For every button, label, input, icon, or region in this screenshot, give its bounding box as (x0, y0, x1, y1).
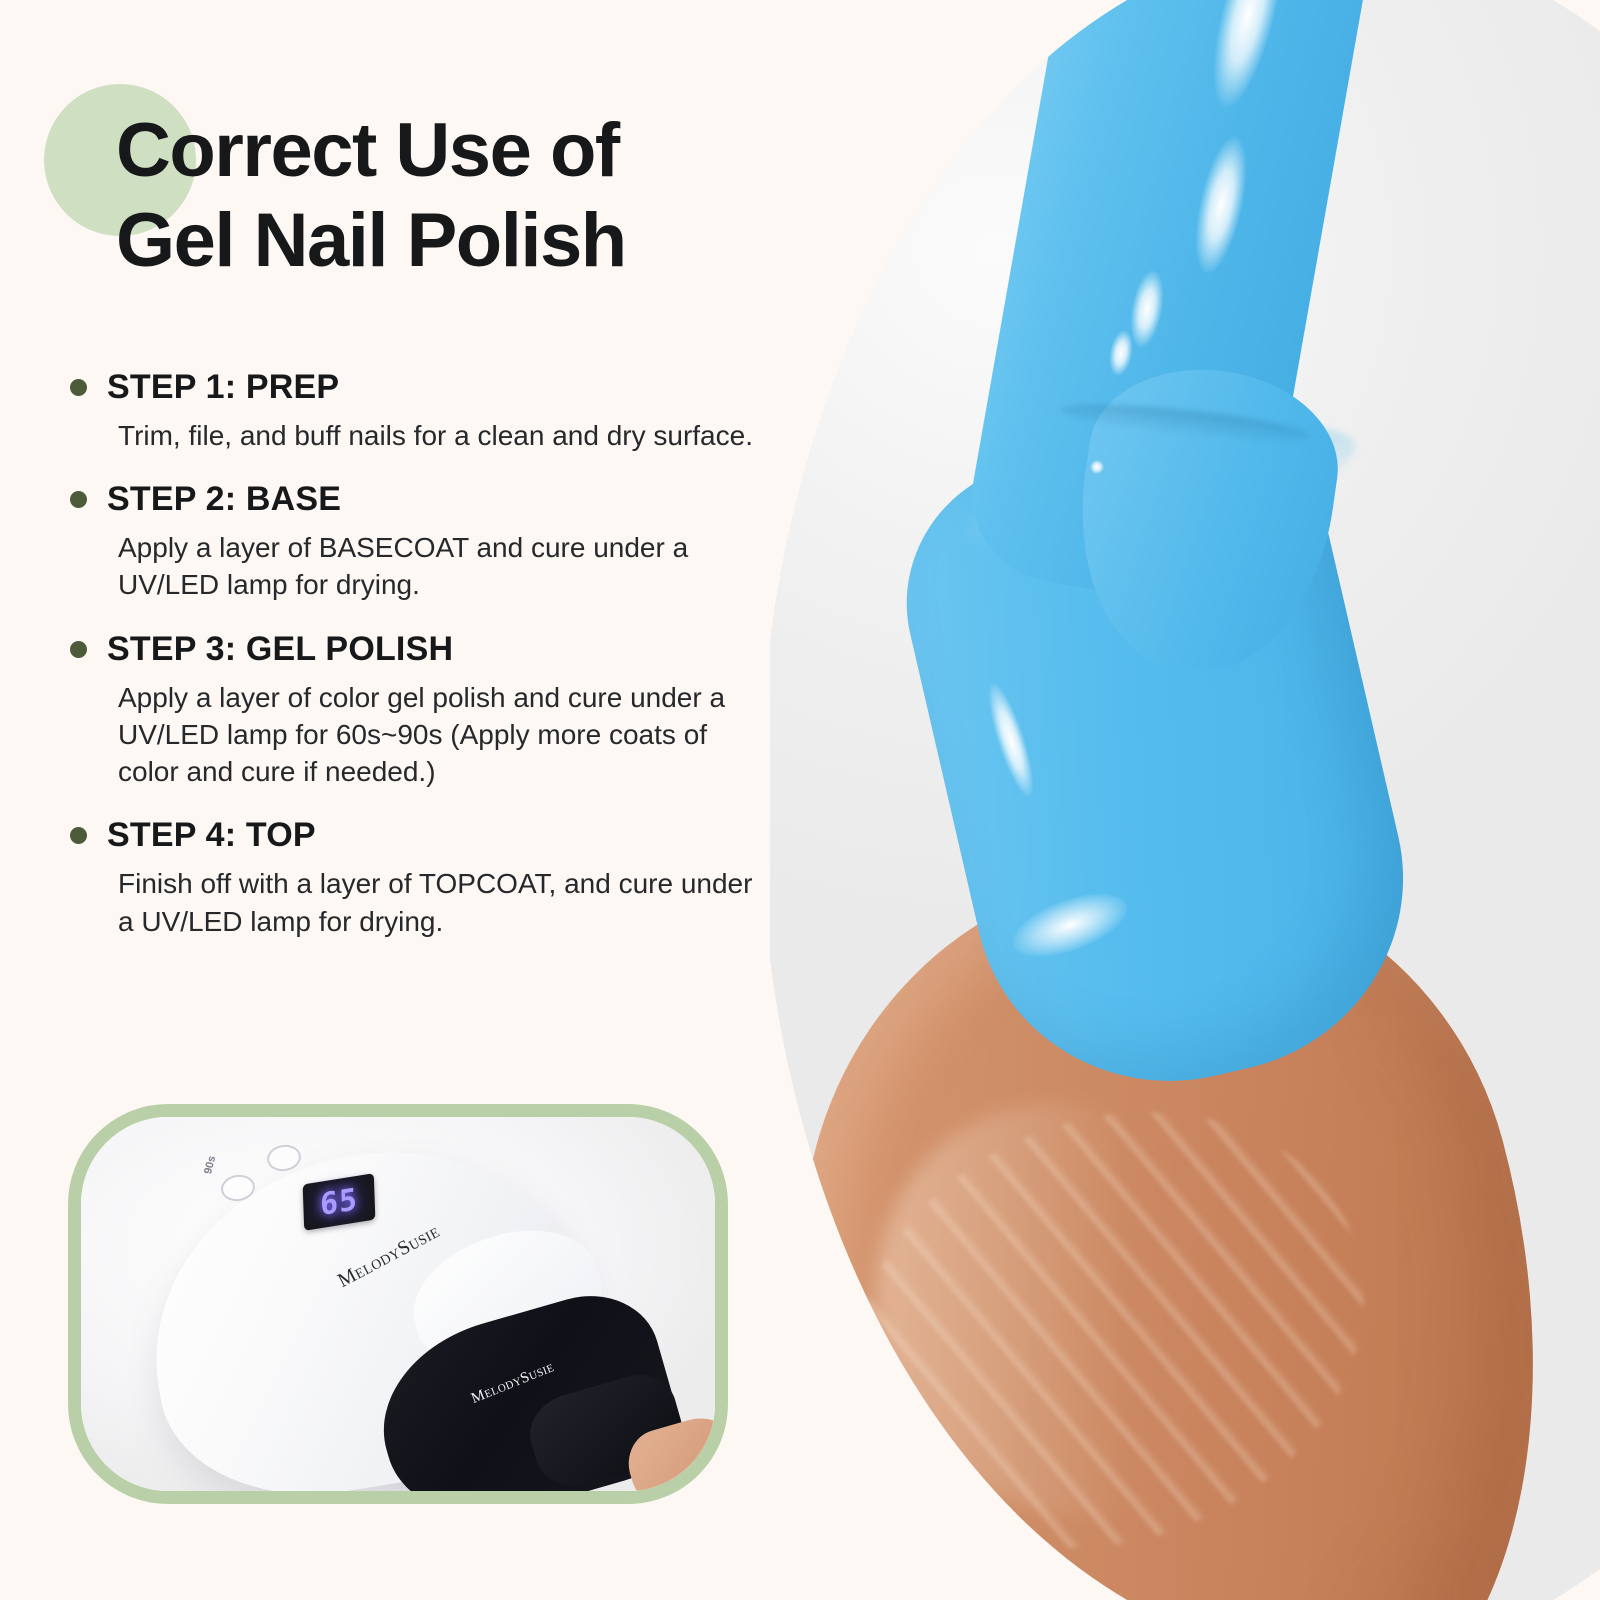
photo-ellipse-clip (770, 0, 1600, 1600)
steps-list: STEP 1: PREP Trim, file, and buff nails … (70, 368, 760, 966)
list-item: STEP 1: PREP Trim, file, and buff nails … (70, 368, 760, 454)
timer-value: 65 (320, 1181, 359, 1222)
product-photo (770, 0, 1600, 1600)
bullet-icon (70, 379, 87, 396)
step-body: Apply a layer of color gel polish and cu… (118, 679, 760, 791)
list-item: STEP 2: BASE Apply a layer of BASECOAT a… (70, 480, 760, 603)
uv-lamp-photo-card: 65 90s MelodySusie MelodySusie (68, 1104, 728, 1504)
step-title: STEP 2: BASE (107, 480, 341, 519)
step-body: Trim, file, and buff nails for a clean a… (118, 417, 760, 454)
step-title: STEP 4: TOP (107, 816, 316, 855)
step-header: STEP 4: TOP (70, 816, 760, 855)
title-line-2: Gel Nail Polish (116, 196, 796, 286)
list-item: STEP 3: GEL POLISH Apply a layer of colo… (70, 630, 760, 791)
bullet-icon (70, 827, 87, 844)
list-item: STEP 4: TOP Finish off with a layer of T… (70, 816, 760, 939)
brush-highlight (1090, 460, 1104, 474)
step-header: STEP 3: GEL POLISH (70, 630, 760, 669)
title-line-1: Correct Use of (116, 106, 796, 196)
step-header: STEP 1: PREP (70, 368, 760, 407)
step-title: STEP 1: PREP (107, 368, 339, 407)
step-body: Apply a layer of BASECOAT and cure under… (118, 529, 760, 603)
page-title: Correct Use of Gel Nail Polish (116, 106, 796, 285)
bullet-icon (70, 491, 87, 508)
step-title: STEP 3: GEL POLISH (107, 630, 453, 669)
uv-lamp-photo: 65 90s MelodySusie MelodySusie (81, 1117, 715, 1491)
step-body: Finish off with a layer of TOPCOAT, and … (118, 865, 760, 939)
step-header: STEP 2: BASE (70, 480, 760, 519)
bullet-icon (70, 641, 87, 658)
